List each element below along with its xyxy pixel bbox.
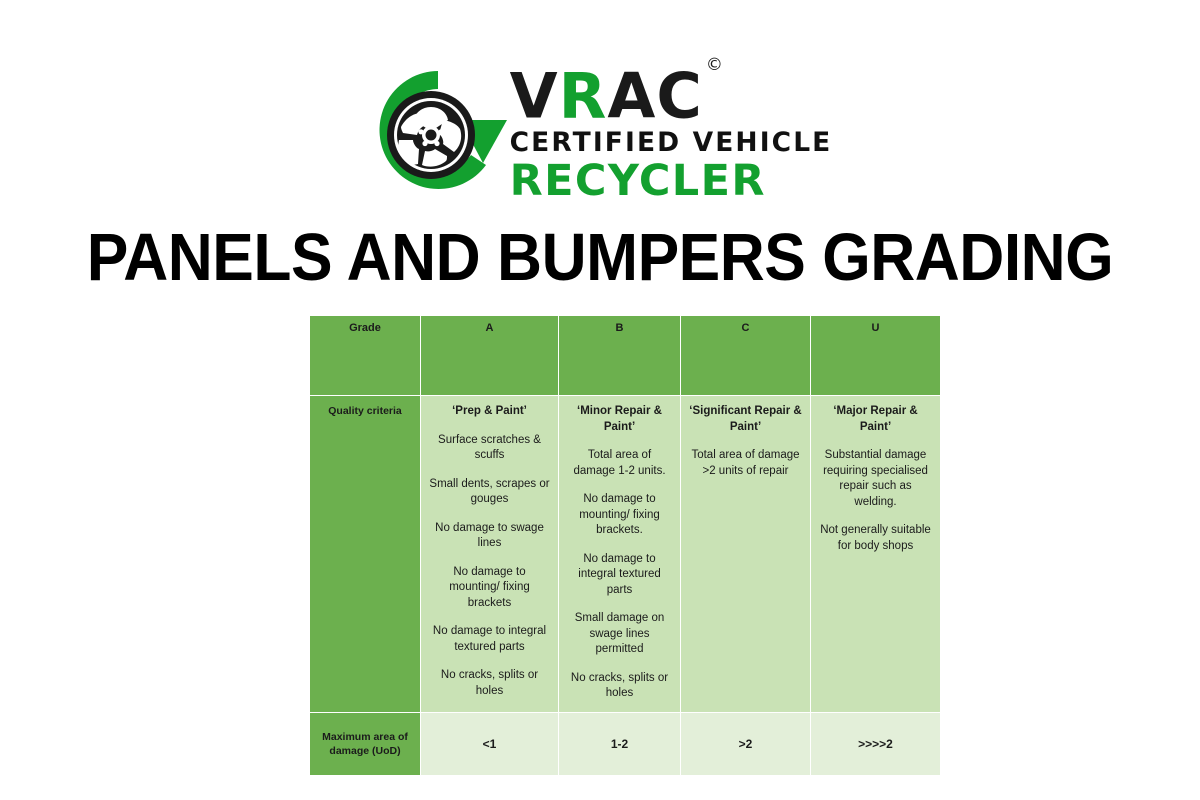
criteria-cell-b: ‘Minor Repair & Paint’ Total area of dam… <box>559 395 681 712</box>
header-grade-u: U <box>811 316 940 395</box>
wordmark-letters-ac: AC <box>607 60 702 133</box>
criteria-heading-c: ‘Significant Repair & Paint’ <box>688 404 803 435</box>
criteria-item: No damage to mounting/ fixing brackets. <box>566 492 673 539</box>
max-area-value-u: >>>>2 <box>811 712 940 775</box>
vrac-logo: VRAC© CERTIFIED VEHICLE RECYCLER <box>0 58 1200 203</box>
criteria-cell-c: ‘Significant Repair & Paint’ Total area … <box>681 395 811 712</box>
criteria-item: No damage to swage lines <box>428 521 551 552</box>
wordmark-vrac: VRAC© <box>510 62 721 126</box>
criteria-item: No cracks, splits or holes <box>566 671 673 702</box>
row-label-maximum-area: Maximum area of damage (UoD) <box>310 712 421 775</box>
panels-bumpers-grading-table: Grade A B C U Quality criteria ‘Prep & P… <box>310 316 940 775</box>
header-grade-b: B <box>559 316 681 395</box>
wordmark-letter-v: V <box>510 60 559 133</box>
criteria-item: Small dents, scrapes or gouges <box>428 477 551 508</box>
criteria-item: Surface scratches & scuffs <box>428 433 551 464</box>
criteria-heading-b: ‘Minor Repair & Paint’ <box>566 404 673 435</box>
criteria-cell-u: ‘Major Repair & Paint’ Substantial damag… <box>811 395 940 712</box>
vrac-wheel-arrow-logo <box>368 60 508 200</box>
table-header-row: Grade A B C U <box>310 316 940 395</box>
criteria-item: Not generally suitable for body shops <box>818 523 933 554</box>
logo-inner: VRAC© CERTIFIED VEHICLE RECYCLER <box>368 58 833 203</box>
max-area-value-a: <1 <box>421 712 559 775</box>
copyright-icon: © <box>706 55 724 75</box>
table-row-quality-criteria: Quality criteria ‘Prep & Paint’ Surface … <box>310 395 940 712</box>
criteria-item: Total area of damage 1-2 units. <box>566 448 673 479</box>
wordmark-letter-r: R <box>559 60 608 133</box>
criteria-cell-a: ‘Prep & Paint’ Surface scratches & scuff… <box>421 395 559 712</box>
criteria-item: No cracks, splits or holes <box>428 668 551 699</box>
criteria-item: Total area of damage >2 units of repair <box>688 448 803 479</box>
header-grade-c: C <box>681 316 811 395</box>
max-area-value-b: 1-2 <box>559 712 681 775</box>
criteria-item: Substantial damage requiring specialised… <box>818 448 933 510</box>
criteria-item: Small damage on swage lines permitted <box>566 611 673 658</box>
criteria-item: No damage to mounting/ fixing brackets <box>428 565 551 612</box>
page-title: PANELS AND BUMPERS GRADING <box>42 222 1158 294</box>
max-area-value-c: >2 <box>681 712 811 775</box>
logo-recycler-word: RECYCLER <box>510 159 766 203</box>
criteria-item: No damage to integral textured parts <box>428 624 551 655</box>
criteria-heading-a: ‘Prep & Paint’ <box>428 404 551 420</box>
header-grade-a: A <box>421 316 559 395</box>
criteria-heading-u: ‘Major Repair & Paint’ <box>818 404 933 435</box>
logo-wordmark: VRAC© CERTIFIED VEHICLE RECYCLER <box>510 58 833 203</box>
row-label-quality-criteria: Quality criteria <box>310 395 421 712</box>
header-grade-label: Grade <box>310 316 421 395</box>
table-row-maximum-area: Maximum area of damage (UoD) <1 1-2 >2 >… <box>310 712 940 775</box>
criteria-item: No damage to integral textured parts <box>566 552 673 599</box>
